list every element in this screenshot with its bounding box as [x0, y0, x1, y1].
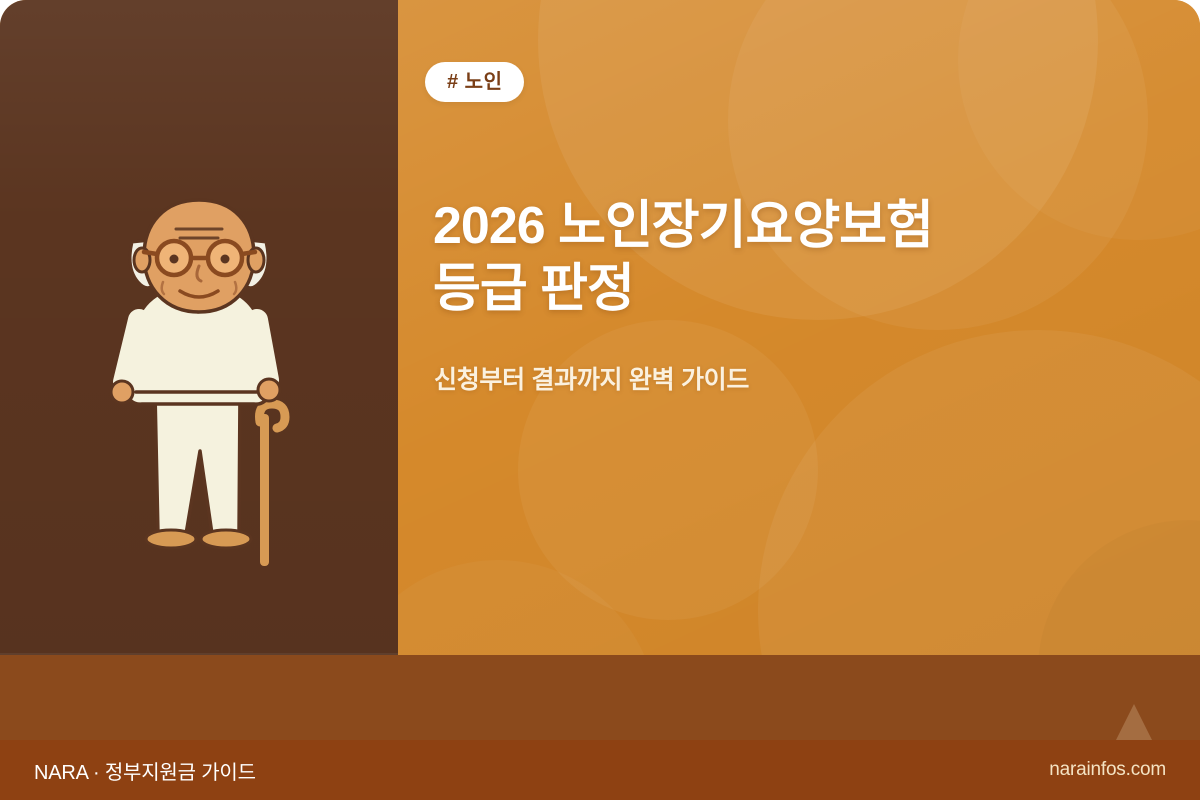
footer-brand-label: NARA · 정부지원금 가이드 [34, 756, 256, 785]
page-title-line-1: 2026 노인장기요양보험 [433, 195, 1033, 258]
thumbnail-canvas: # 노인 2026 노인장기요양보험 등급 판정 신청부터 결과까지 완벽 가이… [0, 0, 1200, 800]
footer-url-label[interactable]: narainfos.com [1049, 759, 1166, 781]
page-subtitle: 신청부터 결과까지 완벽 가이드 [434, 360, 749, 396]
cane-icon [260, 404, 286, 566]
elderly-man-illustration [108, 196, 313, 581]
page-title: 2026 노인장기요양보험 등급 판정 [433, 195, 1033, 322]
chevron-up-icon [1116, 704, 1152, 740]
hero-card: # 노인 2026 노인장기요양보험 등급 판정 신청부터 결과까지 완벽 가이… [0, 0, 1200, 740]
card-base-band [0, 655, 1200, 740]
page-title-line-2: 등급 판정 [433, 258, 1033, 321]
illustration-panel [0, 0, 398, 740]
category-tag-badge[interactable]: # 노인 [425, 62, 524, 102]
footer-bar: NARA · 정부지원금 가이드 narainfos.com [0, 740, 1200, 800]
card-base-left [0, 655, 398, 740]
